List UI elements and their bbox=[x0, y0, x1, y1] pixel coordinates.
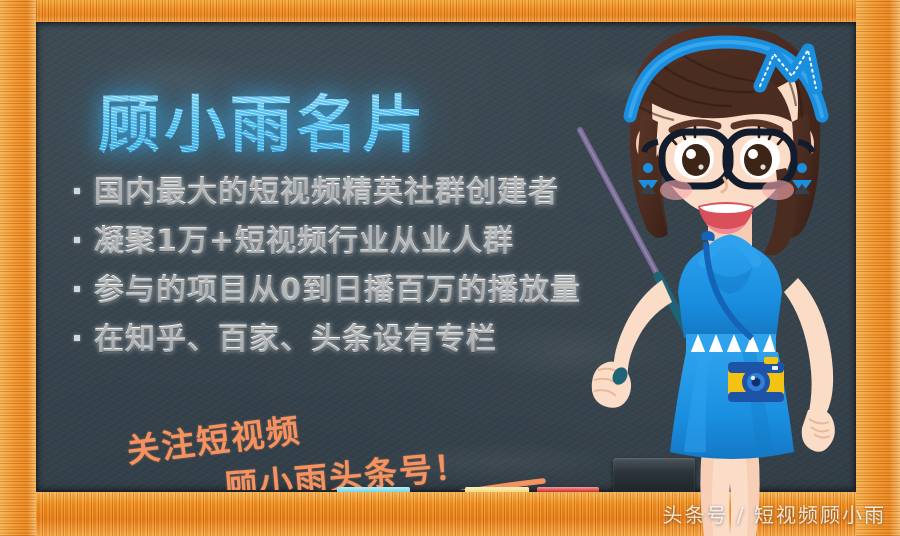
avatar bbox=[590, 18, 900, 536]
bullet-marker-icon bbox=[74, 335, 80, 341]
cartoon-girl-illustration bbox=[590, 18, 900, 536]
frame-left bbox=[0, 0, 36, 536]
bullet-text: 国内最大的短视频精英社群创建者 bbox=[94, 167, 559, 211]
chalkboard-poster: 顾小雨名片 国内最大的短视频精英社群创建者 凝聚1万+短视频行业从业人群 参与的… bbox=[0, 0, 900, 536]
head bbox=[626, 26, 824, 255]
bullet-text: 参与的项目从0到日播百万的播放量 bbox=[94, 265, 581, 309]
bullet-marker-icon bbox=[74, 188, 80, 194]
bullet-marker-icon bbox=[74, 237, 80, 243]
watermark: 头条号 / 短视频顾小雨 bbox=[663, 499, 886, 528]
dress bbox=[670, 240, 794, 459]
bullet-text: 在知乎、百家、头条设有专栏 bbox=[94, 314, 497, 358]
page-title: 顾小雨名片 bbox=[98, 74, 428, 164]
bullet-text: 凝聚1万+短视频行业从业人群 bbox=[94, 216, 514, 260]
bullet-marker-icon bbox=[74, 286, 80, 292]
